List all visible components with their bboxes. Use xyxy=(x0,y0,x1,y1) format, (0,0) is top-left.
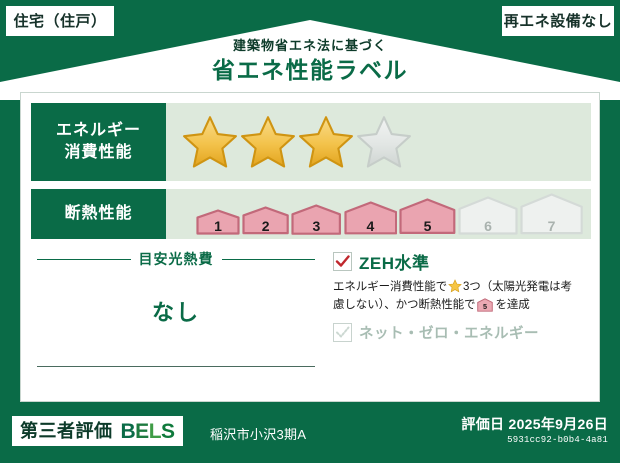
lower-section: 目安光熱費 なし ZEH水準 エネルギー消費性能で3つ（太陽光発電は考慮しな xyxy=(31,245,591,391)
insulation-label-line1: 断熱性能 xyxy=(64,203,132,225)
house-level-number: 5 xyxy=(399,219,456,233)
energy-performance-row: エネルギー 消費性能 xyxy=(31,103,591,181)
certificate-id: 5931cc92-b0b4-4a81 xyxy=(461,435,608,445)
evaluation-date-block: 評価日 2025年9月26日 5931cc92-b0b4-4a81 xyxy=(461,416,608,445)
star-filled-icon xyxy=(240,114,296,170)
zeh-title: ZEH水準 xyxy=(359,249,430,274)
zeh-description: エネルギー消費性能で3つ（太陽光発電は考慮しない）、かつ断熱性能で5を達成 xyxy=(333,279,583,315)
zeh-desc-part3: を達成 xyxy=(495,299,529,311)
check-icon xyxy=(335,254,350,269)
energy-performance-value xyxy=(166,103,591,181)
house-level-7: 7 xyxy=(520,193,583,235)
inline-star-icon xyxy=(448,279,462,293)
check-icon-disabled xyxy=(335,325,350,340)
evaluation-date: 評価日 2025年9月26日 xyxy=(461,416,608,433)
label-body-panel: エネルギー 消費性能 断熱性能 1234567 目安光熱費 xyxy=(20,92,600,402)
zeh-section: ZEH水準 エネルギー消費性能で3つ（太陽光発電は考慮しない）、かつ断熱性能で5… xyxy=(321,245,591,391)
house-level-4: 4 xyxy=(344,201,398,235)
star-empty-icon xyxy=(356,114,412,170)
house-level-2: 2 xyxy=(242,206,289,235)
third-party-eval-label: 第三者評価 xyxy=(20,422,113,440)
house-level-1: 1 xyxy=(196,209,240,235)
utility-cost-divider xyxy=(37,366,315,367)
energy-label-line1: エネルギー xyxy=(56,120,141,142)
utility-cost-title: 目安光熱費 xyxy=(139,249,214,269)
rule-left xyxy=(37,259,131,260)
net-zero-energy-label: ネット・ゼロ・エネルギー xyxy=(359,322,539,343)
house-level-6: 6 xyxy=(458,196,518,235)
insulation-performance-row: 断熱性能 1234567 xyxy=(31,189,591,239)
energy-performance-label: エネルギー 消費性能 xyxy=(31,103,166,181)
house-level-number: 3 xyxy=(291,219,341,233)
bels-badge: 第三者評価 BELS xyxy=(12,416,183,446)
renewable-equipment-tag: 再エネ設備なし xyxy=(502,6,614,36)
house-level-number: 4 xyxy=(344,219,398,233)
star-rating xyxy=(182,114,412,170)
building-type-tag: 住宅（住戸） xyxy=(6,6,114,36)
inline-house-icon: 5 xyxy=(477,298,493,312)
house-level-number: 6 xyxy=(458,219,518,233)
house-level-number: 1 xyxy=(196,219,240,233)
zeh-header: ZEH水準 xyxy=(333,249,583,274)
utility-cost-section: 目安光熱費 なし xyxy=(31,245,321,391)
svg-text:5: 5 xyxy=(483,302,487,311)
zeh-checkbox[interactable] xyxy=(333,252,352,271)
bels-logo: BELS xyxy=(121,421,175,442)
bels-letter-b: B xyxy=(121,420,136,443)
property-name: 稲沢市小沢3期A xyxy=(210,424,306,443)
page-title: 省エネ性能ラベル xyxy=(0,56,620,85)
label-title-block: 建築物省エネ法に基づく 省エネ性能ラベル xyxy=(0,38,620,84)
bels-letter-e: E xyxy=(135,420,149,443)
rule-right xyxy=(222,259,316,260)
utility-cost-value: なし xyxy=(31,295,321,327)
bels-energy-label: 住宅（住戸） 再エネ設備なし 建築物省エネ法に基づく 省エネ性能ラベル エネルギ… xyxy=(0,0,620,463)
insulation-performance-label: 断熱性能 xyxy=(31,189,166,239)
utility-cost-header: 目安光熱費 xyxy=(31,249,321,269)
star-filled-icon xyxy=(298,114,354,170)
insulation-performance-value: 1234567 xyxy=(166,189,591,239)
house-level-5: 5 xyxy=(399,198,456,234)
house-level-number: 2 xyxy=(242,219,289,233)
zeh-desc-part1: エネルギー消費性能で xyxy=(333,281,447,293)
net-zero-checkbox[interactable] xyxy=(333,323,352,342)
title-subtitle: 建築物省エネ法に基づく xyxy=(0,38,620,54)
energy-label-line2: 消費性能 xyxy=(64,142,132,164)
bels-letter-s: S xyxy=(161,420,175,443)
house-level-number: 7 xyxy=(520,219,583,233)
house-level-3: 3 xyxy=(291,204,341,235)
bels-letter-l: L xyxy=(149,420,161,443)
footer-bar: 第三者評価 BELS 稲沢市小沢3期A 評価日 2025年9月26日 5931c… xyxy=(0,408,620,463)
star-filled-icon xyxy=(182,114,238,170)
net-zero-energy-row: ネット・ゼロ・エネルギー xyxy=(333,322,583,343)
house-level-scale: 1234567 xyxy=(182,193,583,235)
